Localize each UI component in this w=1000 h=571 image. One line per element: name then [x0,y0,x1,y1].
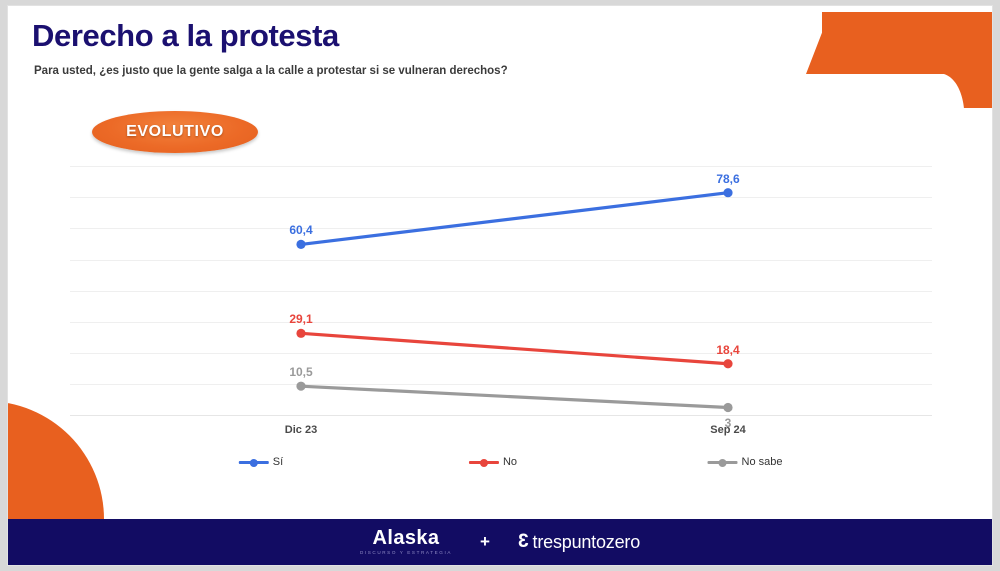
orange-corner-shape-top-right [792,6,992,108]
alaska-logo: Alaska discurso y estrategia [360,528,452,556]
footer-bar: Alaska discurso y estrategia + 3 trespun… [8,519,992,565]
legend-marker-icon [469,457,499,467]
data-point-label: 60,4 [289,223,312,237]
page-subtitle: Para usted, ¿es justo que la gente salga… [34,65,508,77]
series-marker [723,359,732,368]
series-marker [296,329,305,338]
series-line [301,333,728,363]
plus-separator: + [480,532,490,552]
chart-series-1 [296,188,732,249]
legend-item-2[interactable]: No [469,456,517,468]
series-marker [296,240,305,249]
orange-trapezoid-edge [822,12,830,74]
orange-trapezoid-bevel [806,12,830,74]
legend-label: No sabe [742,456,783,468]
evolutivo-badge: EVOLUTIVO [92,111,258,153]
series-marker [723,188,732,197]
series-line [301,193,728,245]
legend-marker-icon [239,457,269,467]
alaska-logo-name: Alaska [373,528,440,548]
chart-series-svg [70,166,932,416]
legend-item-1[interactable]: Sí [239,456,283,468]
orange-trapezoid-svg [792,6,992,108]
series-marker [296,382,305,391]
data-point-label: 29,1 [289,312,312,326]
data-point-label: 18,4 [716,343,739,357]
series-marker [723,403,732,412]
chart-series-2 [296,329,732,369]
alaska-logo-tagline: discurso y estrategia [360,551,452,556]
line-chart: 60,478,629,118,410,53 [70,166,932,416]
x-axis-label: Sep 24 [710,424,745,436]
badge-label: EVOLUTIVO [92,111,258,153]
data-point-label: 10,5 [289,365,312,379]
orange-trapezoid-path [830,12,992,108]
legend-marker-icon [708,457,738,467]
trespuntozero-mark-icon: 3 [518,531,529,553]
data-point-label: 78,6 [716,172,739,186]
slide-canvas: Derecho a la protesta Para usted, ¿es ju… [8,6,992,565]
chart-legend: SíNoNo sabe [8,456,992,478]
series-line [301,386,728,407]
x-axis-label: Dic 23 [285,424,317,436]
legend-label: No [503,456,517,468]
legend-item-3[interactable]: No sabe [708,456,783,468]
chart-series-3 [296,382,732,413]
legend-label: Sí [273,456,283,468]
trespuntozero-logo-name: trespuntozero [533,532,640,553]
trespuntozero-logo: 3 trespuntozero [518,531,640,553]
page-title: Derecho a la protesta [32,18,339,54]
